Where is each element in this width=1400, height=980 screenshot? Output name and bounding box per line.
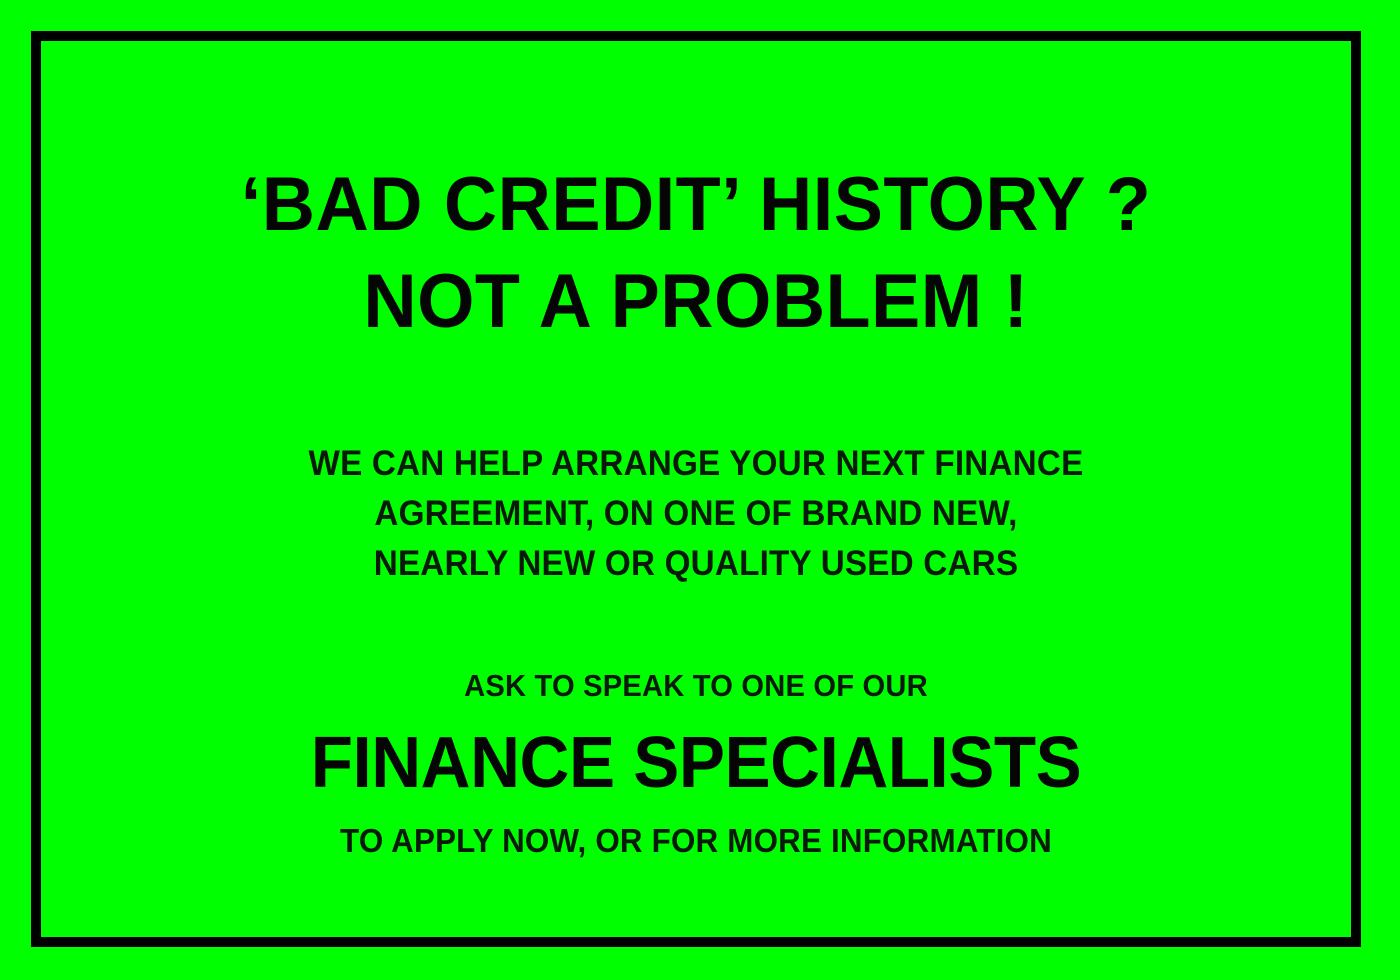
body-copy-line-2: AGREEMENT, ON ONE OF BRAND NEW, [64,489,1328,539]
cta-footer-text: TO APPLY NOW, OR FOR MORE INFORMATION [64,820,1328,861]
headline-line-2: NOT A PROBLEM ! [51,253,1341,350]
body-copy-line-3: NEARLY NEW OR QUALITY USED CARS [64,539,1328,589]
call-to-action-block: ASK TO SPEAK TO ONE OF OUR FINANCE SPECI… [31,667,1361,862]
cta-emphasis-text: FINANCE SPECIALISTS [58,721,1335,806]
cta-lead-in-text: ASK TO SPEAK TO ONE OF OUR [71,667,1321,706]
headline-line-1: ‘BAD CREDIT’ HISTORY ? [51,156,1341,253]
poster-content: ‘BAD CREDIT’ HISTORY ? NOT A PROBLEM ! W… [31,31,1361,947]
advertisement-poster: ‘BAD CREDIT’ HISTORY ? NOT A PROBLEM ! W… [0,0,1400,980]
body-copy-line-1: WE CAN HELP ARRANGE YOUR NEXT FINANCE [64,439,1328,489]
body-copy-block: WE CAN HELP ARRANGE YOUR NEXT FINANCE AG… [31,439,1361,589]
headline-block: ‘BAD CREDIT’ HISTORY ? NOT A PROBLEM ! [31,156,1361,351]
